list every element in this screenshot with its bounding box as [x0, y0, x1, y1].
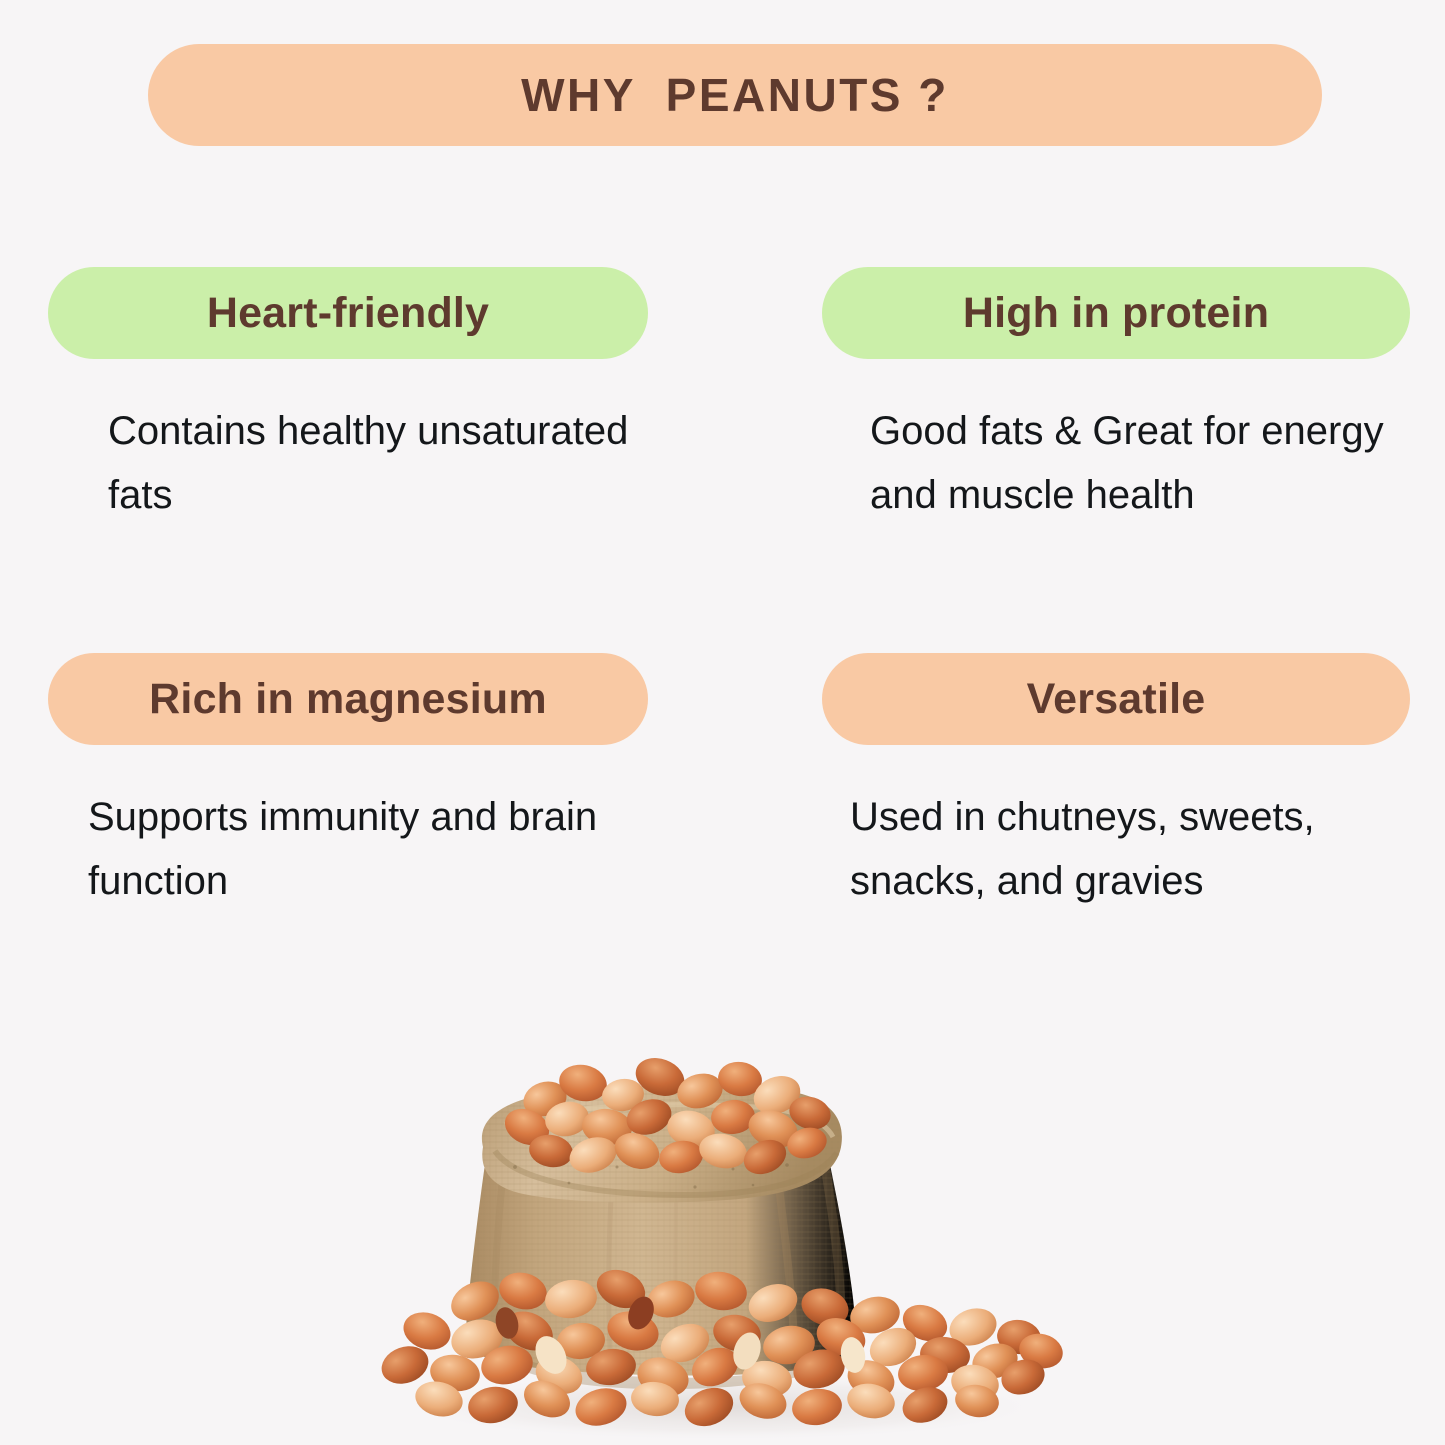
- header-title-pill: WHY PEANUTS ?: [148, 44, 1322, 146]
- benefit-pill-rich-in-magnesium: Rich in magnesium: [48, 653, 648, 745]
- benefit-label: Heart-friendly: [207, 292, 489, 335]
- benefit-block-rich-in-magnesium: Rich in magnesium Supports immunity and …: [48, 653, 648, 913]
- benefit-block-high-in-protein: High in protein Good fats & Great for en…: [822, 267, 1410, 527]
- benefit-description: Contains healthy unsaturated fats: [48, 399, 648, 527]
- benefit-pill-high-in-protein: High in protein: [822, 267, 1410, 359]
- spilled-peanut-pile: [376, 1263, 1066, 1433]
- benefit-pill-heart-friendly: Heart-friendly: [48, 267, 648, 359]
- benefit-label: Versatile: [1027, 678, 1206, 721]
- benefit-block-heart-friendly: Heart-friendly Contains healthy unsatura…: [48, 267, 648, 527]
- benefit-description: Supports immunity and brain function: [48, 785, 648, 913]
- peanut-sack-image: [355, 1055, 1090, 1445]
- benefit-block-versatile: Versatile Used in chutneys, sweets, snac…: [822, 653, 1410, 913]
- page-title: WHY PEANUTS ?: [521, 68, 949, 122]
- benefit-label: Rich in magnesium: [149, 678, 547, 721]
- peanut-sack-illustration: [355, 1055, 1090, 1445]
- benefit-description: Good fats & Great for energy and muscle …: [822, 399, 1410, 527]
- benefit-pill-versatile: Versatile: [822, 653, 1410, 745]
- benefit-description: Used in chutneys, sweets, snacks, and gr…: [822, 785, 1410, 913]
- infographic-poster: WHY PEANUTS ? Heart-friendly Contains he…: [0, 0, 1445, 1445]
- benefit-label: High in protein: [963, 292, 1269, 335]
